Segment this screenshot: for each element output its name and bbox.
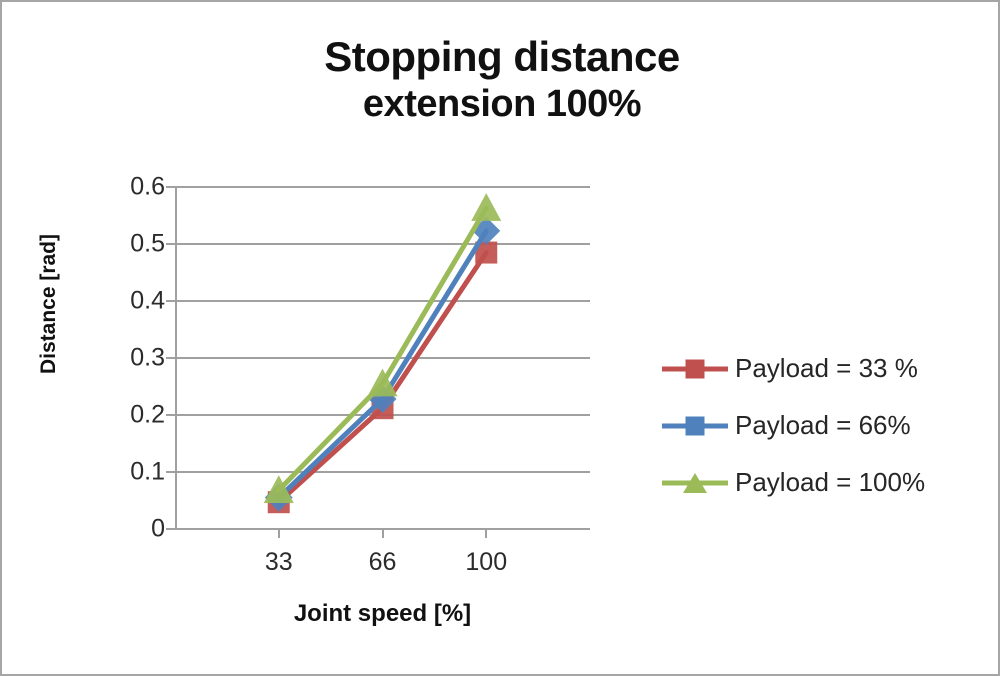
series-line bbox=[279, 208, 487, 490]
legend-item[interactable]: Payload = 66% bbox=[662, 397, 992, 454]
plot-area bbox=[175, 187, 590, 529]
data-point-marker bbox=[471, 193, 501, 221]
legend-key-square-icon bbox=[662, 357, 728, 381]
y-axis-tick-labels: 00.10.20.30.40.50.6 bbox=[87, 187, 165, 529]
x-axis-tickmark bbox=[278, 529, 280, 538]
y-axis-tick-label: 0.2 bbox=[95, 401, 165, 430]
y-axis-tickmark bbox=[166, 471, 175, 473]
legend-key-marker bbox=[683, 473, 707, 493]
chart-title-line-1: Stopping distance bbox=[324, 33, 680, 80]
y-axis-tickmark bbox=[166, 243, 175, 245]
chart-figure: Stopping distance extension 100% Distanc… bbox=[0, 0, 1000, 676]
legend-item-label: Payload = 66% bbox=[735, 410, 911, 441]
legend-item[interactable]: Payload = 100% bbox=[662, 454, 992, 511]
chart-title: Stopping distance extension 100% bbox=[122, 32, 882, 126]
y-axis-tick-label: 0 bbox=[95, 515, 165, 544]
x-axis-tick-labels: 3366100 bbox=[175, 548, 590, 584]
legend-key-triangle-icon bbox=[662, 471, 728, 495]
x-axis-title: Joint speed [%] bbox=[175, 600, 590, 628]
x-axis-tick-label: 33 bbox=[224, 548, 334, 577]
legend-item-label: Payload = 100% bbox=[735, 467, 925, 498]
chart-legend: Payload = 33 %Payload = 66%Payload = 100… bbox=[662, 340, 992, 511]
legend-key-diamond-icon bbox=[662, 414, 728, 438]
y-axis-title: Distance [rad] bbox=[37, 224, 61, 384]
x-axis-tick-label: 66 bbox=[328, 548, 438, 577]
y-axis-tick-label: 0.1 bbox=[95, 458, 165, 487]
legend-item-label: Payload = 33 % bbox=[735, 353, 918, 384]
series-plot bbox=[175, 187, 590, 529]
series-3 bbox=[264, 193, 502, 503]
x-axis-tickmark bbox=[485, 529, 487, 538]
y-axis-tick-label: 0.4 bbox=[95, 287, 165, 316]
y-axis-tick-label: 0.5 bbox=[95, 230, 165, 259]
x-axis-tickmark bbox=[382, 529, 384, 538]
legend-key-marker bbox=[686, 359, 705, 378]
y-axis-tick-label: 0.6 bbox=[95, 173, 165, 202]
y-axis-tickmark bbox=[166, 300, 175, 302]
legend-item[interactable]: Payload = 33 % bbox=[662, 340, 992, 397]
legend-key-marker bbox=[686, 416, 705, 435]
y-axis-tick-label: 0.3 bbox=[95, 344, 165, 373]
y-axis-tickmark bbox=[166, 528, 175, 530]
y-axis-tickmark bbox=[166, 414, 175, 416]
x-axis-tick-label: 100 bbox=[431, 548, 541, 577]
chart-title-line-2: extension 100% bbox=[122, 82, 882, 127]
y-axis-tickmark bbox=[166, 357, 175, 359]
y-axis-tickmark bbox=[166, 186, 175, 188]
